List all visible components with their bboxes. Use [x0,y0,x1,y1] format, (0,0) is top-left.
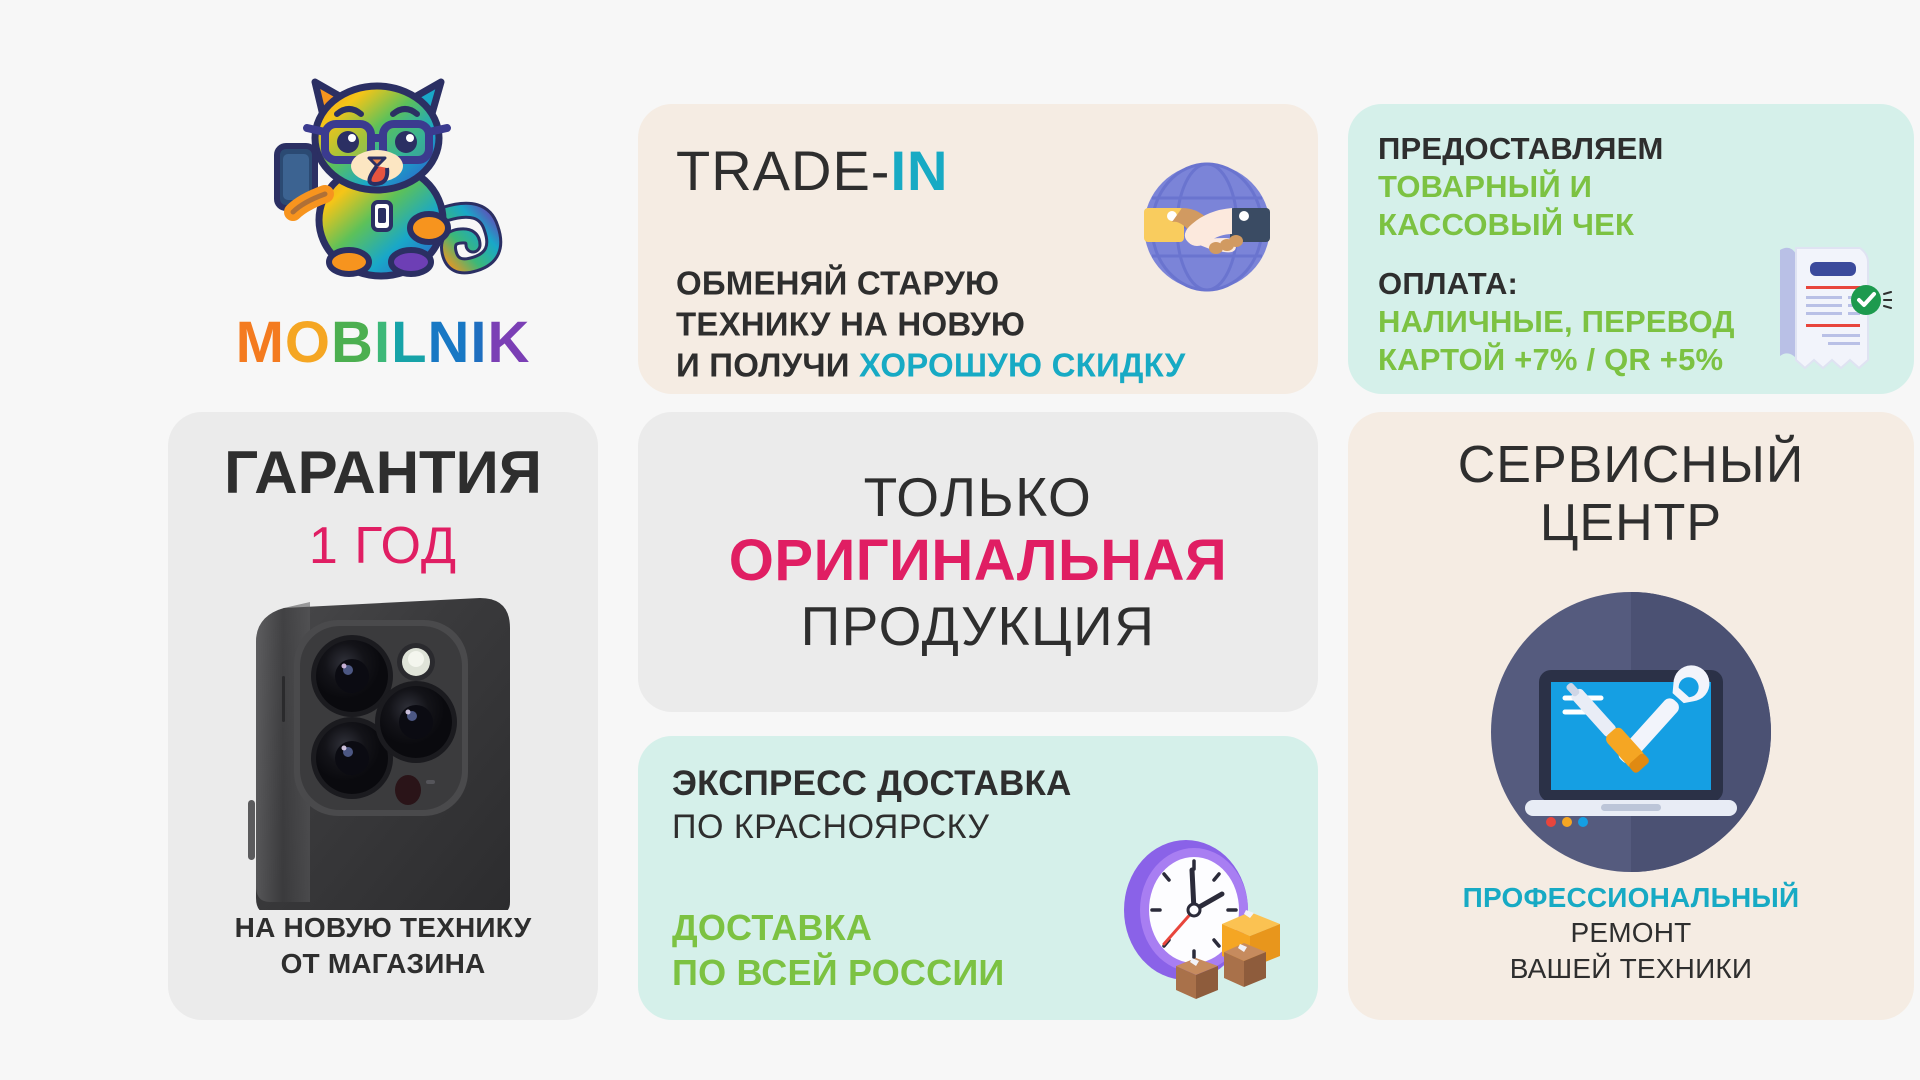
card-original-products[interactable]: ТОЛЬКО ОРИГИНАЛЬНАЯ ПРОДУКЦИЯ [638,412,1318,712]
receipt-line-1: ПРЕДОСТАВЛЯЕМ [1378,130,1758,168]
trade-in-line-3: И ПОЛУЧИ ХОРОШУЮ СКИДКУ [676,345,1185,386]
original-line-3: ПРОДУКЦИЯ [801,596,1156,658]
receipt-line-5: НАЛИЧНЫЕ, ПЕРЕВОД [1378,303,1758,341]
wordmark-letter-3: I [374,314,391,372]
service-title-line-1: СЕРВИСНЫЙ [1348,436,1914,494]
black-iphone-pro-camera-icon [220,590,550,910]
wordmark-letter-2: B [331,314,374,372]
warranty-footnote: НА НОВУЮ ТЕХНИКУ ОТ МАГАЗИНА [168,910,598,982]
trade-in-line-3-accent: ХОРОШУЮ СКИДКУ [859,346,1185,383]
delivery-line-3: ДОСТАВКА [672,906,1004,951]
receipt-line-4: ОПЛАТА: [1378,265,1758,303]
receipt-text-block: ПРЕДОСТАВЛЯЕМ ТОВАРНЫЙ И КАССОВЫЙ ЧЕК ОП… [1378,130,1758,379]
receipt-line-3: КАССОВЫЙ ЧЕК [1378,206,1758,244]
trade-in-line-1: ОБМЕНЯЙ СТАРУЮ [676,263,1185,304]
brand-wordmark: MOBILNIK [236,314,531,372]
delivery-line-1: ЭКСПРЕСС ДОСТАВКА [672,764,1072,804]
trade-in-title-accent: IN [890,139,948,202]
brand-logo: MOBILNIK [168,62,598,392]
rainbow-cat-mascot-icon [233,62,533,312]
service-foot-line-3: ВАШЕЙ ТЕХНИКИ [1348,951,1914,986]
clock-parcels-icon [1106,832,1296,1002]
trade-in-description: ОБМЕНЯЙ СТАРУЮ ТЕХНИКУ НА НОВУЮ И ПОЛУЧИ… [676,263,1185,386]
card-warranty[interactable]: ГАРАНТИЯ 1 ГОД [168,412,598,1020]
card-trade-in[interactable]: TRADE-IN ОБМЕНЯЙ СТАРУЮ ТЕХНИКУ НА НОВУЮ… [638,104,1318,394]
laptop-repair-tools-icon [1481,582,1781,882]
service-footnote: ПРОФЕССИОНАЛЬНЫЙ РЕМОНТ ВАШЕЙ ТЕХНИКИ [1348,880,1914,986]
trade-in-line-3-plain: И ПОЛУЧИ [676,346,859,383]
card-receipt-payment[interactable]: ПРЕДОСТАВЛЯЕМ ТОВАРНЫЙ И КАССОВЫЙ ЧЕК ОП… [1348,104,1914,394]
wordmark-letter-0: M [236,314,285,372]
wordmark-letter-6: I [470,314,487,372]
original-line-2: ОРИГИНАЛЬНАЯ [729,527,1227,595]
warranty-foot-line-2: ОТ МАГАЗИНА [168,946,598,982]
warranty-duration: 1 ГОД [168,516,598,576]
receipt-line-6: КАРТОЙ +7% / QR +5% [1378,341,1758,379]
warranty-title: ГАРАНТИЯ [168,438,598,507]
trade-in-title-plain: TRADE- [676,139,890,202]
trade-in-line-2: ТЕХНИКУ НА НОВУЮ [676,304,1185,345]
original-line-1: ТОЛЬКО [864,467,1093,528]
delivery-russia-block: ДОСТАВКА ПО ВСЕЙ РОССИИ [672,906,1004,995]
promo-banner: MOBILNIK TRADE-IN ОБМЕНЯЙ СТАРУЮ ТЕХНИКУ… [0,0,1920,1080]
handshake-globe-icon [1132,152,1282,302]
service-foot-line-1: ПРОФЕССИОНАЛЬНЫЙ [1348,880,1914,915]
card-delivery[interactable]: ЭКСПРЕСС ДОСТАВКА ПО КРАСНОЯРСКУ ДОСТАВК… [638,736,1318,1020]
service-title: СЕРВИСНЫЙ ЦЕНТР [1348,436,1914,552]
service-title-line-2: ЦЕНТР [1348,494,1914,552]
trade-in-title: TRADE-IN [676,138,948,203]
card-service-center[interactable]: СЕРВИСНЫЙ ЦЕНТР [1348,412,1914,1020]
receipt-line-2: ТОВАРНЫЙ И [1378,168,1758,206]
delivery-line-4: ПО ВСЕЙ РОССИИ [672,951,1004,996]
service-foot-line-2: РЕМОНТ [1348,915,1914,950]
receipt-check-icon [1762,234,1892,374]
warranty-foot-line-1: НА НОВУЮ ТЕХНИКУ [168,910,598,946]
wordmark-letter-7: K [488,314,531,372]
wordmark-letter-1: O [285,314,331,372]
wordmark-letter-4: L [391,314,427,372]
delivery-line-2: ПО КРАСНОЯРСКУ [672,808,989,847]
wordmark-letter-5: N [428,314,471,372]
